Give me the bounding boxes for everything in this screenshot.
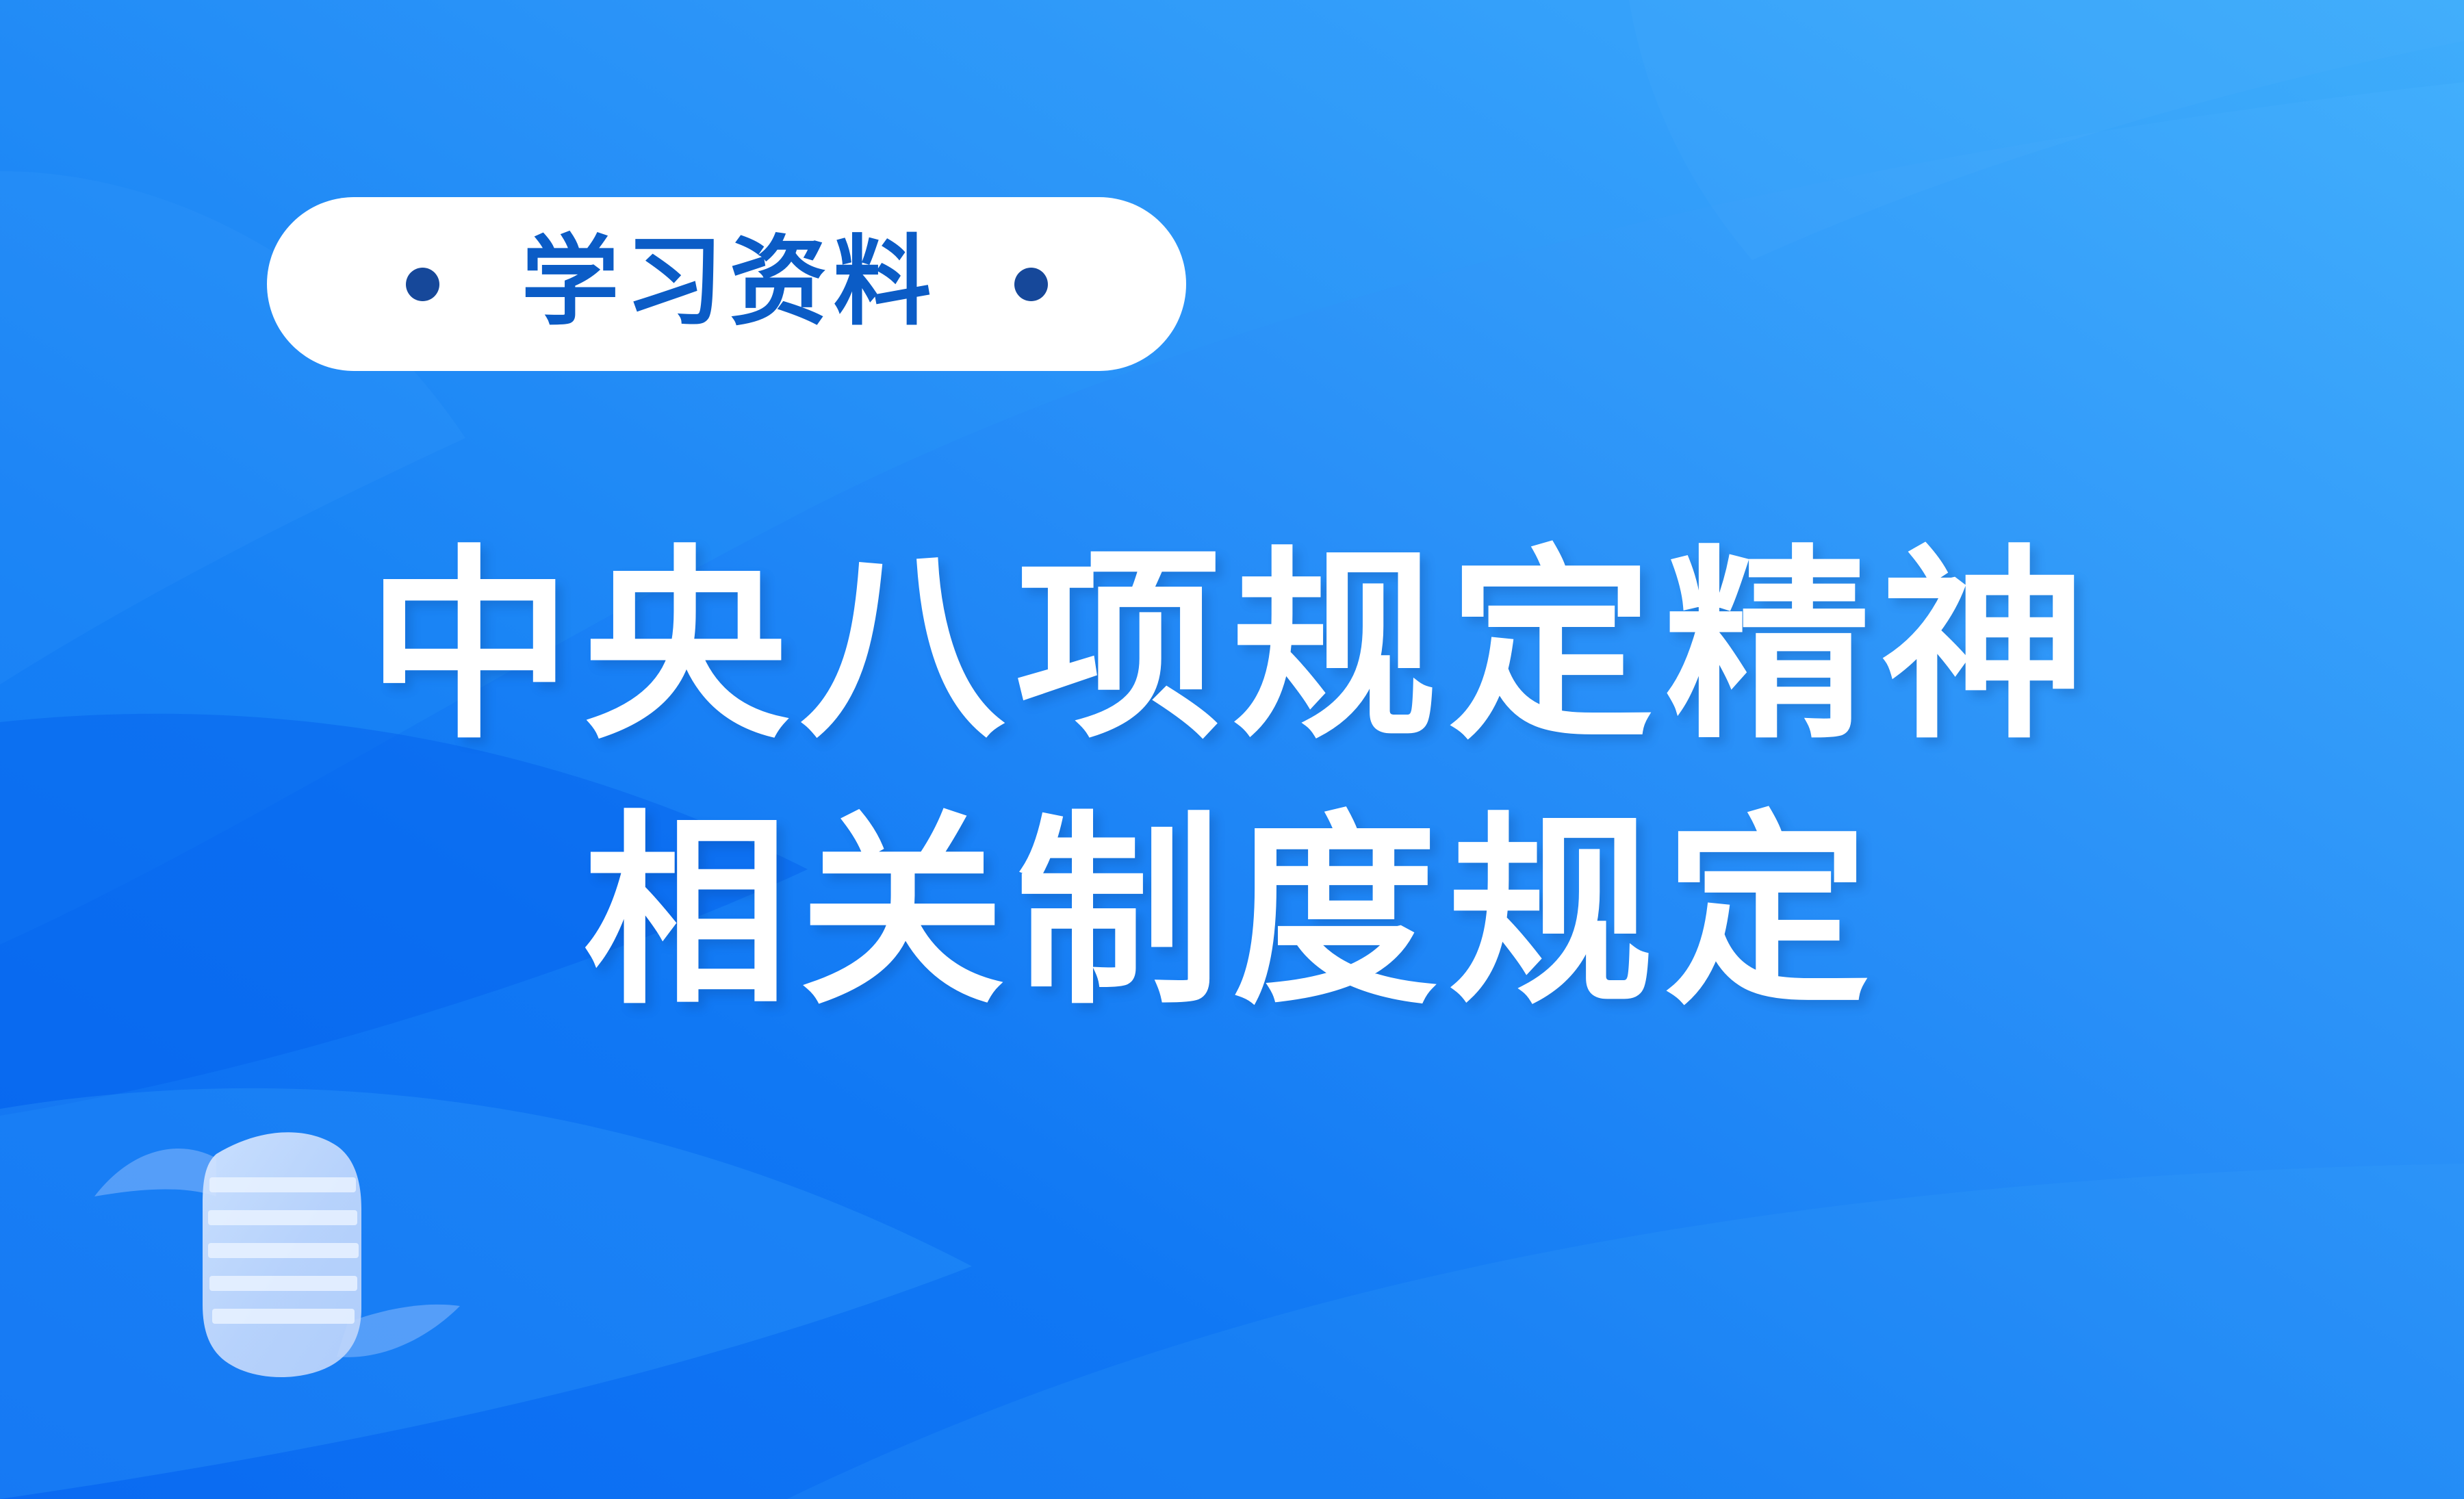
wave-left-light [0, 1088, 972, 1499]
scroll-line-5 [212, 1309, 355, 1324]
scroll-sheet [203, 1132, 361, 1377]
scroll-back-wing-left [94, 1149, 216, 1196]
badge-dot-right-icon [1014, 268, 1048, 301]
badge-dot-left-icon [406, 268, 439, 301]
title-line-1: 中央八项规定精神 [0, 544, 2464, 749]
scroll-back-wing-right [337, 1305, 460, 1357]
scroll-text-lines [208, 1177, 359, 1324]
wave-bottom-right [787, 1164, 2464, 1499]
badge-label: 学习资料 [522, 233, 938, 335]
poster-title: 中央八项规定精神 相关制度规定 [0, 544, 2464, 1015]
scroll-line-4 [209, 1276, 357, 1291]
scroll-line-2 [208, 1210, 357, 1225]
scroll-line-1 [209, 1177, 356, 1192]
study-material-badge: 学习资料 [267, 197, 1186, 371]
poster-canvas: 学习资料 中央八项规定精神 相关制度规定 [0, 0, 2464, 1499]
scroll-line-3 [208, 1243, 359, 1258]
document-scroll-icon [82, 1123, 465, 1410]
wave-upper-right-ribbon [1629, 0, 2464, 260]
title-line-2: 相关制度规定 [0, 810, 2464, 1015]
